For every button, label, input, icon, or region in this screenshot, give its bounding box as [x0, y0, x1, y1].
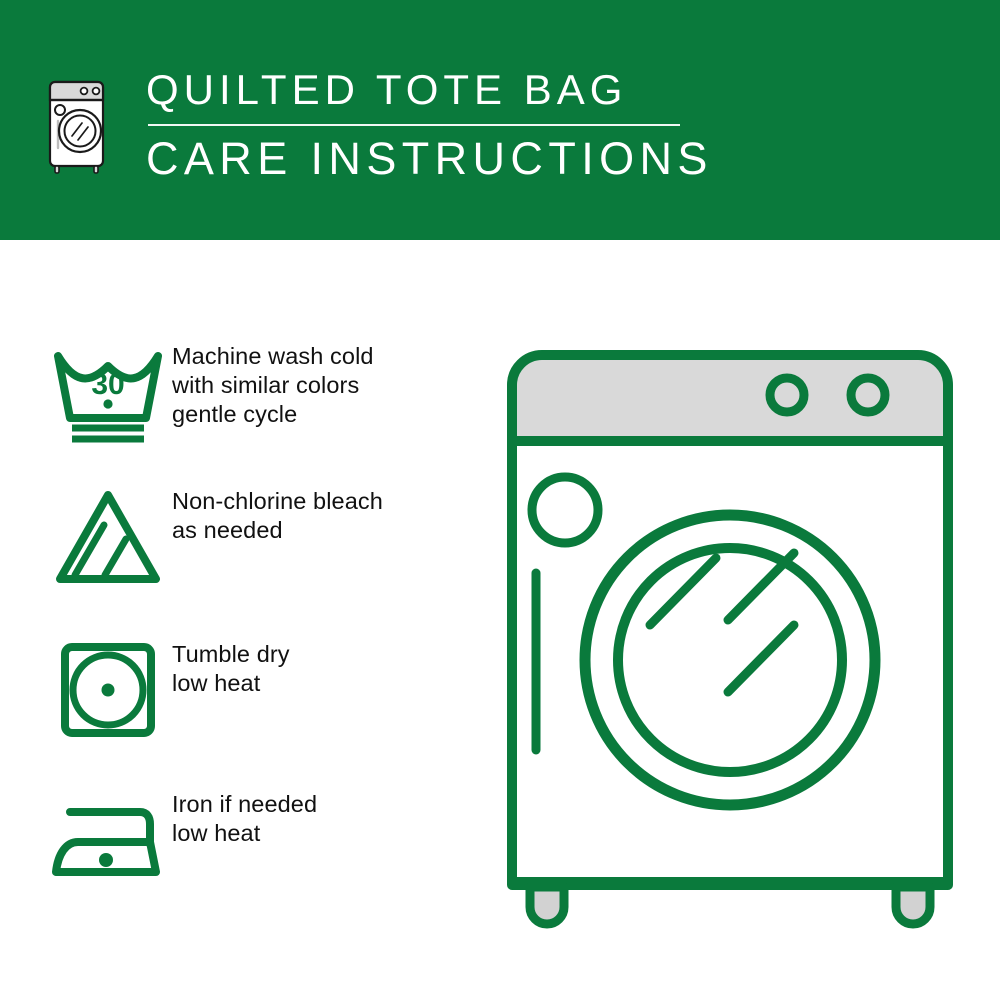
page-title-secondary: CARE INSTRUCTIONS: [146, 133, 846, 185]
care-instruction-list: 30 Machine wash cold with similar colors…: [0, 240, 500, 1000]
care-text-bleach: Non-chlorine bleach as needed: [172, 485, 383, 545]
care-text-tumble-dry: Tumble dry low heat: [172, 638, 290, 698]
care-row-wash: 30 Machine wash cold with similar colors…: [44, 340, 484, 444]
page-title-primary: QUILTED TOTE BAG: [146, 64, 846, 116]
washing-machine-illustration: [490, 330, 970, 930]
care-row-iron: Iron if needed low heat: [44, 788, 484, 892]
tumble-dry-low-heat-icon: [44, 638, 172, 742]
indicator-button: [532, 477, 598, 543]
leg-left: [530, 887, 564, 924]
washing-machine-icon: [44, 68, 112, 178]
door-outer-ring: [585, 515, 875, 805]
wash-temperature-label: 30: [91, 368, 124, 401]
non-chlorine-bleach-triangle-icon: [44, 485, 172, 589]
care-text-iron: Iron if needed low heat: [172, 788, 317, 848]
leg-right: [896, 887, 930, 924]
care-text-wash: Machine wash cold with similar colors ge…: [172, 340, 374, 429]
door-inner-ring: [618, 548, 842, 772]
header-title-block: QUILTED TOTE BAG CARE INSTRUCTIONS: [146, 64, 846, 185]
iron-low-heat-icon: [44, 788, 172, 892]
care-row-bleach: Non-chlorine bleach as needed: [44, 485, 484, 589]
header-banner: QUILTED TOTE BAG CARE INSTRUCTIONS: [0, 0, 1000, 240]
title-divider: [148, 124, 680, 126]
care-row-tumble-dry: Tumble dry low heat: [44, 638, 484, 742]
wash-tub-30-gentle-icon: 30: [44, 340, 172, 444]
